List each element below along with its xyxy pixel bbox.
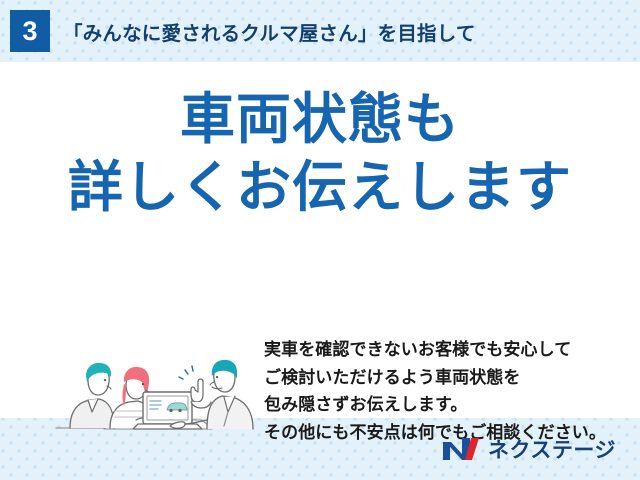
content-panel: 車両状態も 詳しくお伝えします: [0, 62, 640, 418]
body-copy-line-2: ご検討いただけるよう車両状態を: [264, 364, 624, 392]
nextage-n-mark-icon: [441, 436, 481, 462]
body-copy-line-1: 実車を確認できないお客様でも安心して: [264, 336, 624, 364]
lower-content-row: 実車を確認できないお客様でも安心して ご検討いただけるよう車両状態を 包み隠さず…: [0, 270, 640, 418]
nextage-logo-text: ネクステージ: [488, 434, 616, 464]
slide-canvas: 3 「みんなに愛されるクルマ屋さん」を目指して 車両状態も 詳しくお伝えします: [0, 0, 640, 480]
header-bar: 3 「みんなに愛されるクルマ屋さん」を目指して: [0, 0, 640, 62]
body-copy-line-3: 包み隠さずお伝えします。: [264, 391, 624, 419]
headline: 車両状態も 詳しくお伝えします: [0, 90, 640, 218]
footer-bar: ネクステージ: [0, 418, 640, 480]
header-title: 「みんなに愛されるクルマ屋さん」を目指して: [63, 17, 476, 46]
headline-line-2: 詳しくお伝えします: [0, 158, 640, 217]
headline-line-1: 車両状態も: [0, 90, 640, 149]
nextage-logo: ネクステージ: [441, 434, 616, 464]
section-number-badge: 3: [10, 10, 50, 52]
